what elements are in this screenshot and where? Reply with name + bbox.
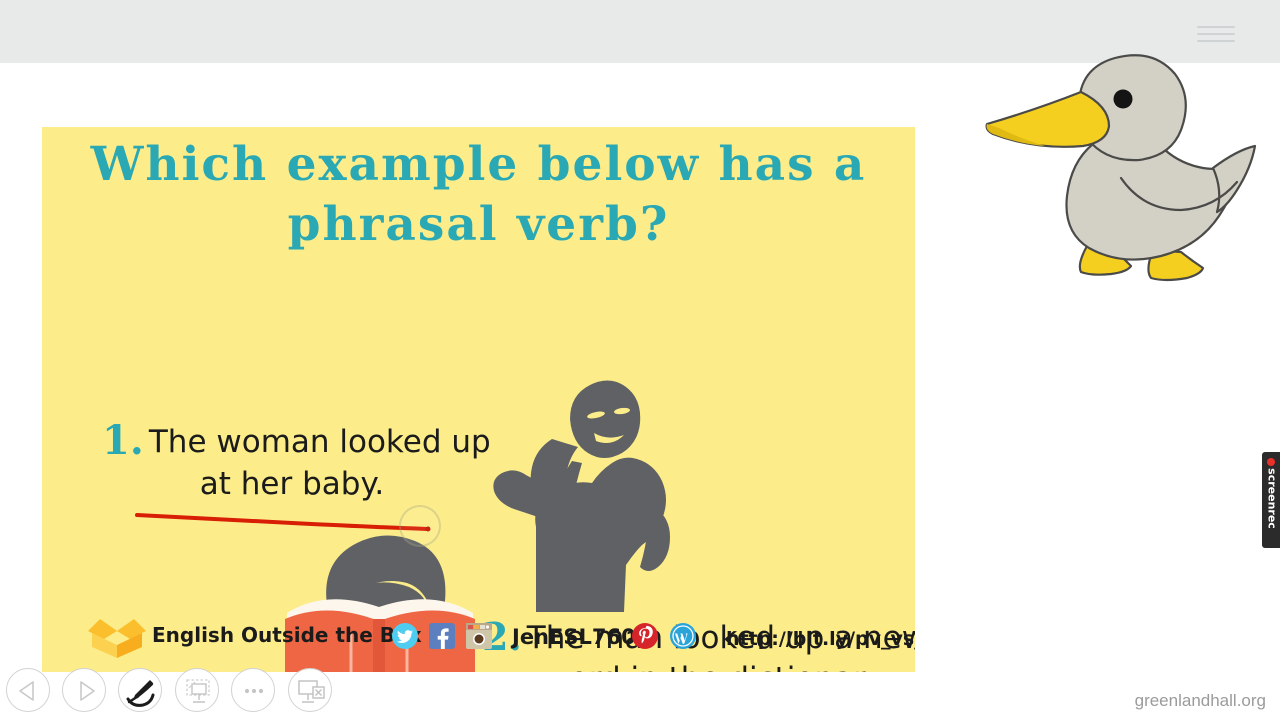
ellipsis-icon [232,669,276,713]
pinterest-icon[interactable] [631,622,659,650]
brand-name: English Outside the Box [152,623,422,647]
pen-icon [119,669,163,713]
screenrec-watermark: screenrec [1262,452,1280,548]
next-slide-button[interactable] [62,668,106,712]
slide-title-line1: Which example below has a [91,137,867,192]
answer-option-1-number: 1. [102,417,144,464]
more-options-button[interactable] [231,668,275,712]
end-show-icon [289,669,333,713]
hamburger-icon[interactable] [1197,26,1235,42]
social-handle: JenESL760 [512,625,636,649]
mother-lifting-baby-silhouette [474,367,689,612]
wordpress-icon[interactable] [669,622,697,650]
site-watermark: greenlandhall.org [1135,691,1266,711]
slide-title-question-mark: ? [640,197,670,252]
duck-eye [1114,90,1133,109]
slide-footer: English Outside the Box JenESL760 [42,608,915,664]
answer-option-1-line2: at her baby. [102,464,502,505]
facebook-icon[interactable] [428,622,456,650]
instagram-icon[interactable] [465,622,493,650]
slide-title-line2: phrasal verb [288,197,640,252]
answer-option-1-line1: The woman looked up [149,424,491,460]
presentation-viewer: Which example below has a phrasal verb? [0,0,1280,720]
triangle-left-icon [7,669,51,713]
screen-capture-button[interactable] [175,668,219,712]
slide-canvas[interactable]: Which example below has a phrasal verb? [42,127,915,672]
answer-option-1[interactable]: 1. The woman looked up at her baby. [102,417,502,505]
screen-capture-icon [176,669,220,713]
triangle-right-icon [63,669,107,713]
duck-illustration [975,50,1265,295]
screenrec-label: screenrec [1266,463,1279,535]
presentation-toolbar [0,668,340,716]
short-url[interactable]: http://bit.ly/pv_vs_prep [726,628,915,650]
slide-title: Which example below has a phrasal verb? [42,135,915,255]
twitter-icon[interactable] [391,622,419,650]
previous-slide-button[interactable] [6,668,50,712]
end-show-button[interactable] [288,668,332,712]
pen-tool-button[interactable] [118,668,162,712]
pen-cursor-ring [399,505,441,547]
open-box-logo [86,615,148,659]
